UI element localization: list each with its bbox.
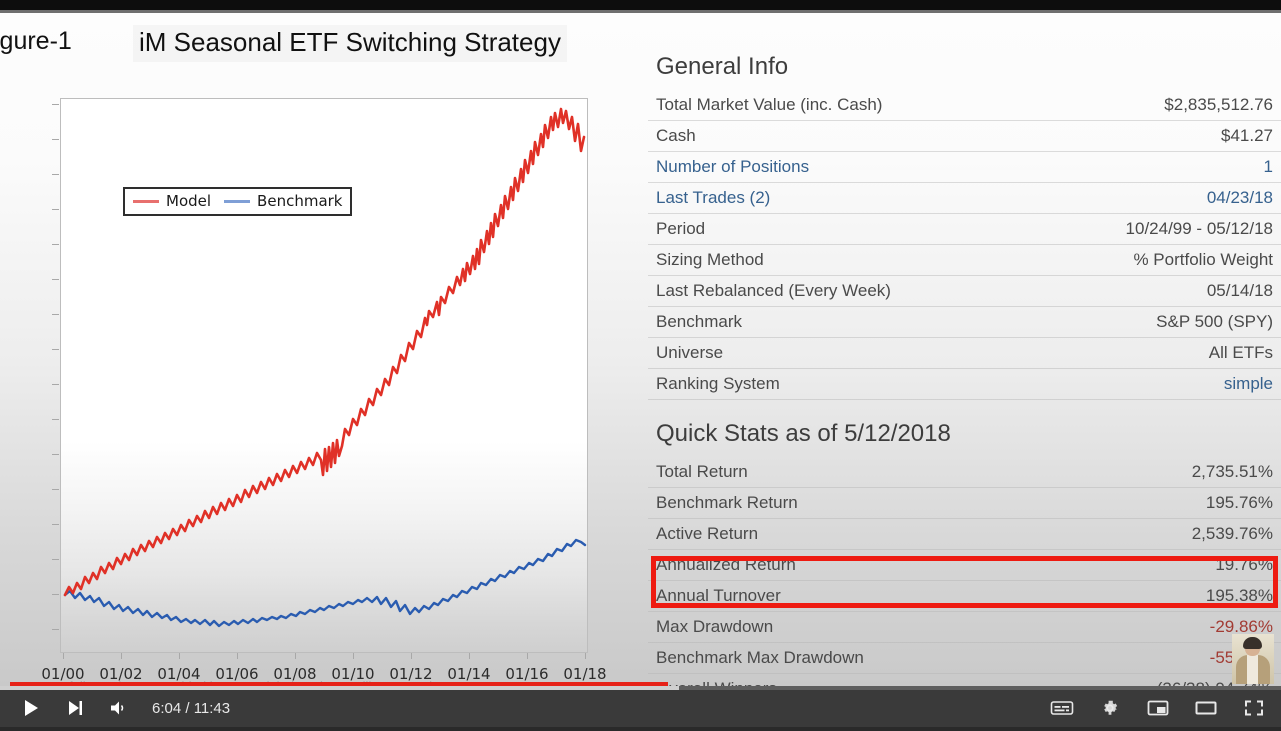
row-value: All ETFs [1209, 340, 1273, 365]
fullscreen-icon[interactable] [1241, 695, 1267, 721]
table-row: Universe All ETFs [648, 338, 1281, 369]
chart-legend: Model Benchmark [123, 187, 352, 216]
row-key: Period [656, 216, 705, 241]
y-tick-mark [52, 104, 59, 105]
row-key: Max Drawdown [656, 614, 773, 639]
row-value: 2,539.76% [1192, 521, 1273, 546]
x-tick-mark [295, 653, 296, 659]
y-tick-mark [52, 139, 59, 140]
player-controls-left: 6:04 / 11:43 [18, 692, 230, 724]
row-key: Benchmark Max Drawdown [656, 645, 864, 670]
table-row[interactable]: Last Trades (2) 04/23/18 [648, 183, 1281, 214]
y-tick-mark [52, 174, 59, 175]
y-tick-mark [52, 489, 59, 490]
quick-stats-section: Quick Stats as of 5/12/2018 Total Return… [648, 420, 1281, 686]
model-line [65, 109, 584, 595]
x-tick-mark [121, 653, 122, 659]
row-value: 195.76% [1206, 490, 1273, 515]
video-progress-bar[interactable] [0, 686, 1281, 690]
row-key: Last Rebalanced (Every Week) [656, 278, 891, 303]
x-tick-mark [237, 653, 238, 659]
next-track-icon[interactable] [62, 695, 88, 721]
table-row: Period 10/24/99 - 05/12/18 [648, 214, 1281, 245]
subtitles-icon[interactable] [1049, 695, 1075, 721]
y-tick-mark [52, 629, 59, 630]
table-row: Cash $41.27 [648, 121, 1281, 152]
row-key: Active Return [656, 521, 758, 546]
row-value: % Portfolio Weight [1133, 247, 1273, 272]
benchmark-line [65, 540, 585, 626]
table-row[interactable]: Ranking System simple [648, 369, 1281, 400]
row-key: Benchmark Return [656, 490, 798, 515]
gear-icon[interactable] [1097, 695, 1123, 721]
row-value: $2,835,512.76 [1164, 92, 1273, 117]
video-player-controls: 6:04 / 11:43 [0, 686, 1281, 731]
volume-icon[interactable] [106, 695, 132, 721]
row-key-link[interactable]: Number of Positions [656, 154, 809, 179]
video-progress-fill [0, 686, 679, 690]
y-tick-mark [52, 419, 59, 420]
row-value: 19.76% [1215, 552, 1273, 577]
table-row: Overall Winners (36/38) 94.74% [648, 674, 1281, 686]
table-row: Annual Turnover 195.38% [648, 581, 1281, 612]
x-tick-mark [353, 653, 354, 659]
row-value-link[interactable]: 04/23/18 [1207, 185, 1273, 210]
row-key: Total Market Value (inc. Cash) [656, 92, 882, 117]
row-key: Ranking System [656, 371, 780, 396]
video-time-display: 6:04 / 11:43 [152, 700, 230, 717]
page-title: iM Seasonal ETF Switching Strategy [133, 25, 567, 62]
row-value: 2,735.51% [1192, 459, 1273, 484]
x-tick-mark [411, 653, 412, 659]
x-tick-label: 01/18 [550, 665, 620, 683]
y-tick-mark [52, 279, 59, 280]
row-key: Overall Winners [656, 676, 777, 686]
y-tick-mark [52, 559, 59, 560]
benchmark-legend-label: Benchmark [257, 192, 342, 210]
table-row[interactable]: Number of Positions 1 [648, 152, 1281, 183]
figure-label: igure-1 [0, 27, 72, 56]
red-underline-annotation [10, 682, 668, 686]
y-tick-mark [52, 244, 59, 245]
presenter-hair [1243, 637, 1262, 649]
presenter-webcam-thumbnail [1232, 634, 1274, 684]
row-key: Cash [656, 123, 696, 148]
general-info-heading: General Info [656, 53, 1281, 81]
plot-area: Model Benchmark [60, 98, 588, 653]
y-tick-mark [52, 524, 59, 525]
row-value-link[interactable]: 1 [1264, 154, 1273, 179]
row-key: Benchmark [656, 309, 742, 334]
y-tick-mark [52, 454, 59, 455]
table-row: Active Return 2,539.76% [648, 519, 1281, 550]
row-key: Annualized Return [656, 552, 796, 577]
x-tick-mark [63, 653, 64, 659]
miniplayer-icon[interactable] [1145, 695, 1171, 721]
player-controls-right [1049, 692, 1267, 724]
y-tick-mark [52, 384, 59, 385]
play-icon[interactable] [18, 695, 44, 721]
x-tick-mark [469, 653, 470, 659]
y-tick-mark [52, 209, 59, 210]
table-row: Total Return 2,735.51% [648, 457, 1281, 488]
model-legend-swatch [133, 200, 159, 203]
table-row-max-drawdown: Max Drawdown -29.86% [648, 612, 1281, 643]
browser-top-bar [0, 0, 1281, 10]
row-value: $41.27 [1221, 123, 1273, 148]
player-bottom-edge [0, 727, 1281, 731]
table-row-benchmark-max-drawdown: Benchmark Max Drawdown -55.19% [648, 643, 1281, 674]
row-key: Universe [656, 340, 723, 365]
table-row: Benchmark Return 195.76% [648, 488, 1281, 519]
x-tick-mark [179, 653, 180, 659]
table-row: Annualized Return 19.76% [648, 550, 1281, 581]
row-key: Sizing Method [656, 247, 764, 272]
row-value: 195.38% [1206, 583, 1273, 608]
row-value: 10/24/99 - 05/12/18 [1126, 216, 1273, 241]
info-panel: General Info Total Market Value (inc. Ca… [648, 53, 1281, 686]
y-tick-mark [52, 594, 59, 595]
y-tick-mark [52, 314, 59, 315]
table-row: Total Market Value (inc. Cash) $2,835,51… [648, 90, 1281, 121]
portfolio-report-page: igure-1 iM Seasonal ETF Switching Strate… [0, 13, 1281, 686]
presenter-shirt [1247, 655, 1258, 684]
x-tick-mark [585, 653, 586, 659]
ranking-system-link[interactable]: simple [1224, 371, 1273, 396]
table-row: Sizing Method % Portfolio Weight [648, 245, 1281, 276]
equity-curve-chart: 3,000 2,800 2,600 2,400 2,200 2,000 1,80… [0, 73, 640, 686]
table-row: Last Rebalanced (Every Week) 05/14/18 [648, 276, 1281, 307]
x-tick-mark [527, 653, 528, 659]
table-row: Benchmark S&P 500 (SPY) [648, 307, 1281, 338]
row-value: 05/14/18 [1207, 278, 1273, 303]
row-key: Total Return [656, 459, 748, 484]
equity-curves-svg [61, 99, 587, 652]
row-value: S&P 500 (SPY) [1156, 309, 1273, 334]
model-legend-label: Model [166, 192, 211, 210]
theater-mode-icon[interactable] [1193, 695, 1219, 721]
benchmark-legend-swatch [224, 200, 250, 203]
quick-stats-heading: Quick Stats as of 5/12/2018 [656, 420, 1281, 448]
row-key-link[interactable]: Last Trades (2) [656, 185, 770, 210]
y-tick-mark [52, 349, 59, 350]
row-key: Annual Turnover [656, 583, 781, 608]
